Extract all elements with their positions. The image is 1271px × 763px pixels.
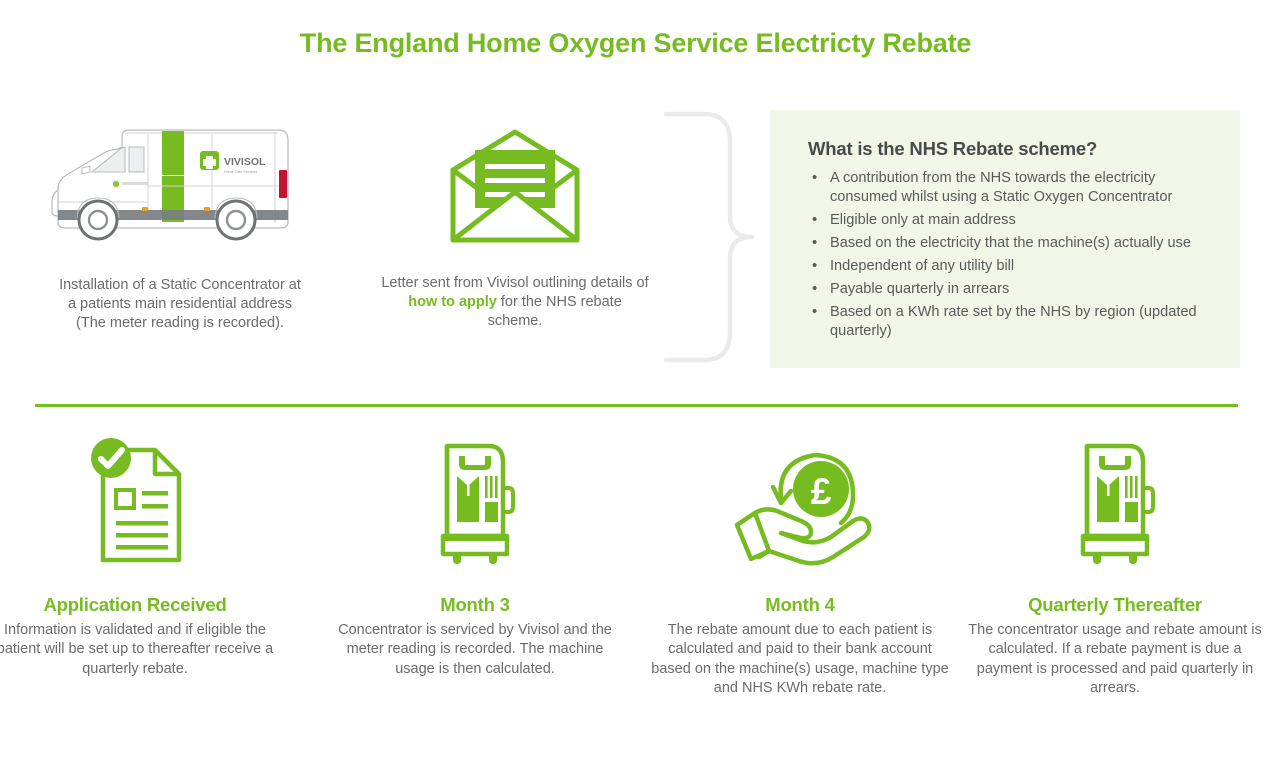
step-title: Quarterly Thereafter: [965, 594, 1265, 616]
step-title: Month 4: [650, 594, 950, 616]
list-item: A contribution from the NHS towards the …: [808, 169, 1216, 207]
step-month-3: Month 3 Concentrator is serviced by Vivi…: [330, 432, 620, 679]
list-item: Eligible only at main address: [808, 211, 1216, 230]
curly-brace-connector-icon: [648, 108, 768, 366]
letter-caption: Letter sent from Vivisol outlining detai…: [380, 274, 650, 331]
step-quarterly-thereafter: Quarterly Thereafter The concentrator us…: [965, 432, 1265, 698]
document-check-icon: [0, 432, 280, 572]
info-panel-heading: What is the NHS Rebate scheme?: [808, 138, 1216, 160]
svg-text:£: £: [811, 471, 832, 512]
van-caption-line-1: Installation of a Static Concentrator at: [59, 277, 301, 293]
step-month-4: £ Month 4 The rebate amount due to each …: [650, 432, 950, 698]
step-letter: Letter sent from Vivisol outlining detai…: [380, 118, 650, 331]
step-body: The concentrator usage and rebate amount…: [965, 621, 1265, 698]
step-title: Month 3: [330, 594, 620, 616]
list-item: Based on the electricity that the machin…: [808, 234, 1216, 253]
van-caption: Installation of a Static Concentrator at…: [30, 276, 330, 333]
section-divider: [35, 404, 1238, 407]
van-caption-line-2: a patients main residential address: [68, 296, 292, 312]
letter-caption-part-1: Letter sent from Vivisol outlining detai…: [381, 275, 648, 291]
open-envelope-letter-icon: [380, 118, 650, 258]
letter-caption-part-2: for the NHS rebate scheme.: [488, 294, 622, 329]
step-body: The rebate amount due to each patient is…: [650, 621, 950, 698]
step-application-received: Application Received Information is vali…: [0, 432, 280, 679]
oxygen-concentrator-icon: [330, 432, 620, 572]
list-item: Payable quarterly in arrears: [808, 280, 1216, 299]
nhs-rebate-info-panel: What is the NHS Rebate scheme? A contrib…: [770, 110, 1240, 368]
page-title: The England Home Oxygen Service Electric…: [0, 28, 1271, 59]
step-title: Application Received: [0, 594, 280, 616]
hand-holding-pound-refund-icon: £: [650, 432, 950, 572]
step-installation: VIVISOL Home Care Services Installation …: [30, 110, 330, 333]
list-item: Independent of any utility bill: [808, 257, 1216, 276]
step-body: Concentrator is serviced by Vivisol and …: [330, 621, 620, 679]
timeline-steps-row: Application Received Information is vali…: [0, 432, 1271, 752]
letter-caption-highlight: how to apply: [408, 294, 497, 310]
infographic-page: The England Home Oxygen Service Electric…: [0, 0, 1271, 763]
svg-text:VIVISOL: VIVISOL: [224, 156, 266, 168]
vivisol-delivery-van-icon: VIVISOL Home Care Services: [30, 110, 330, 260]
step-body: Information is validated and if eligible…: [0, 621, 280, 679]
list-item: Based on a KWh rate set by the NHS by re…: [808, 303, 1216, 341]
oxygen-concentrator-icon: [965, 432, 1265, 572]
svg-text:Home Care Services: Home Care Services: [224, 170, 257, 174]
van-caption-line-3: (The meter reading is recorded).: [76, 315, 284, 331]
info-panel-bullet-list: A contribution from the NHS towards the …: [808, 169, 1216, 341]
